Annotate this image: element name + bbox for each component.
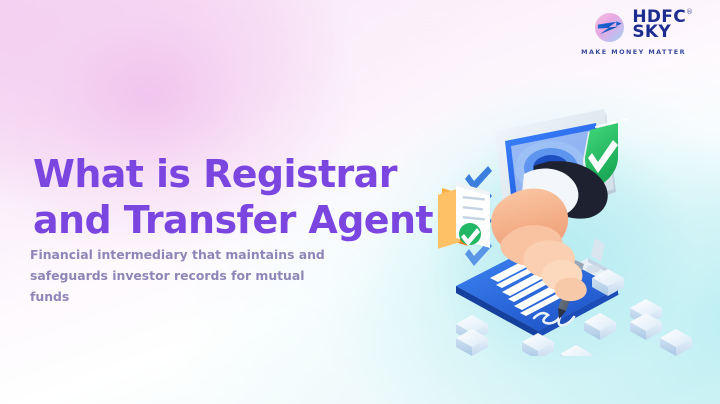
envelope-with-document [438, 182, 490, 250]
promo-banner: HDFC SKY ® MAKE MONEY MATTER What is Reg… [0, 0, 720, 404]
page-subtitle: Financial intermediary that maintains an… [30, 244, 360, 307]
brand-wordmark: HDFC SKY [632, 10, 686, 40]
isometric-digital-signature-illustration [438, 96, 720, 356]
brand-logo[interactable]: HDFC SKY ® [594, 10, 686, 43]
page-title: What is Registrar and Transfer Agent ? [33, 151, 467, 243]
registered-trademark-icon: ® [686, 8, 693, 16]
hdfc-sky-swoosh-logo-icon [594, 12, 625, 43]
brand-name-line2: SKY [632, 25, 686, 40]
brand-tagline: MAKE MONEY MATTER [581, 48, 686, 56]
